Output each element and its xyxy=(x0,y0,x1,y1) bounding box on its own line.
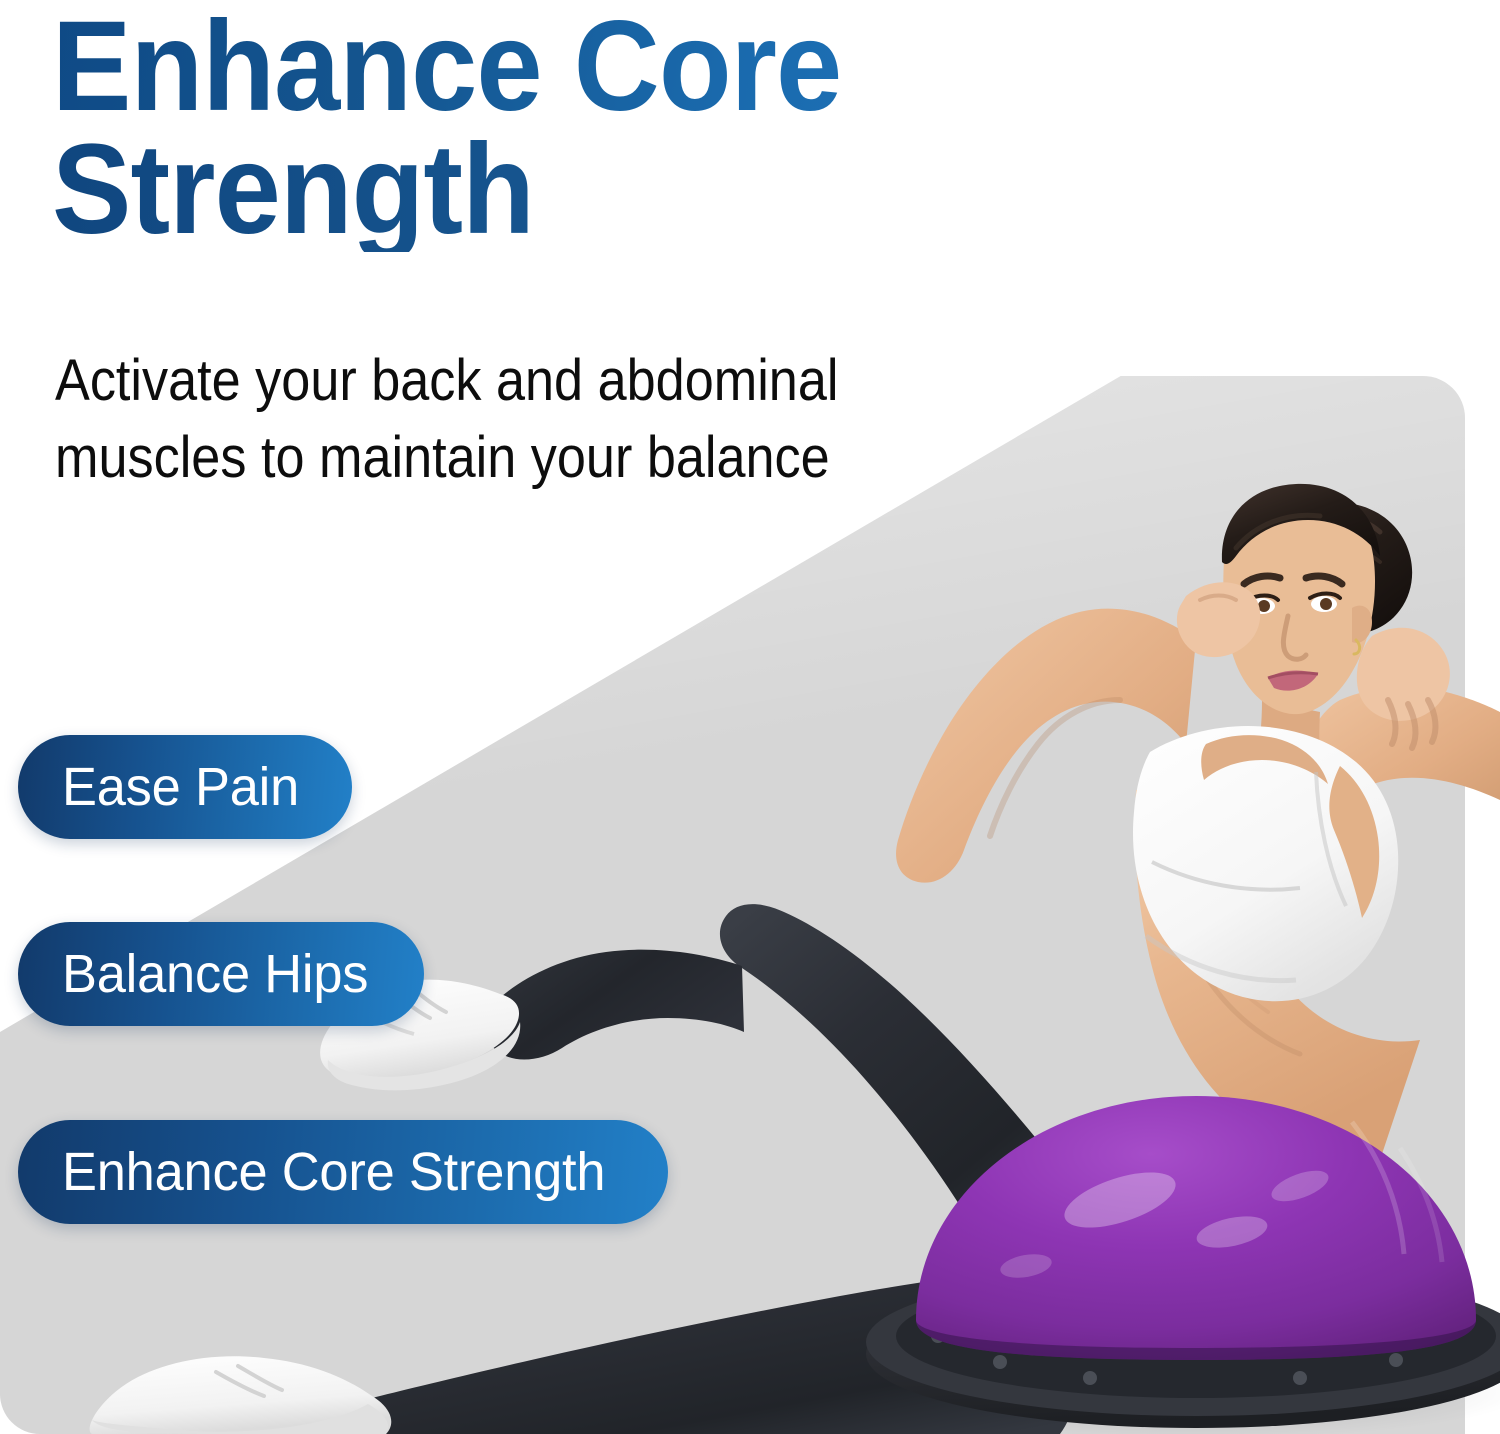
benefit-pill-enhance-core-strength: Enhance Core Strength xyxy=(18,1120,668,1224)
benefit-pill-label: Enhance Core Strength xyxy=(62,1141,605,1203)
benefit-pill-label: Ease Pain xyxy=(62,756,299,818)
headline-line-1: Enhance Core xyxy=(52,6,1149,129)
benefit-pill-balance-hips: Balance Hips xyxy=(18,922,424,1026)
product-infographic-canvas: Enhance Core Strength Activate your back… xyxy=(0,0,1500,1434)
headline-line-2: Strength xyxy=(52,129,1149,252)
benefit-pill-ease-pain: Ease Pain xyxy=(18,735,352,839)
subtitle-line-2: muscles to maintain your balance xyxy=(55,419,1072,496)
background-panel xyxy=(0,376,1465,1434)
benefit-pill-label: Balance Hips xyxy=(62,943,368,1005)
page-title: Enhance Core Strength xyxy=(52,6,1149,252)
page-subtitle: Activate your back and abdominal muscles… xyxy=(55,342,1072,496)
subtitle-line-1: Activate your back and abdominal xyxy=(55,342,1072,419)
